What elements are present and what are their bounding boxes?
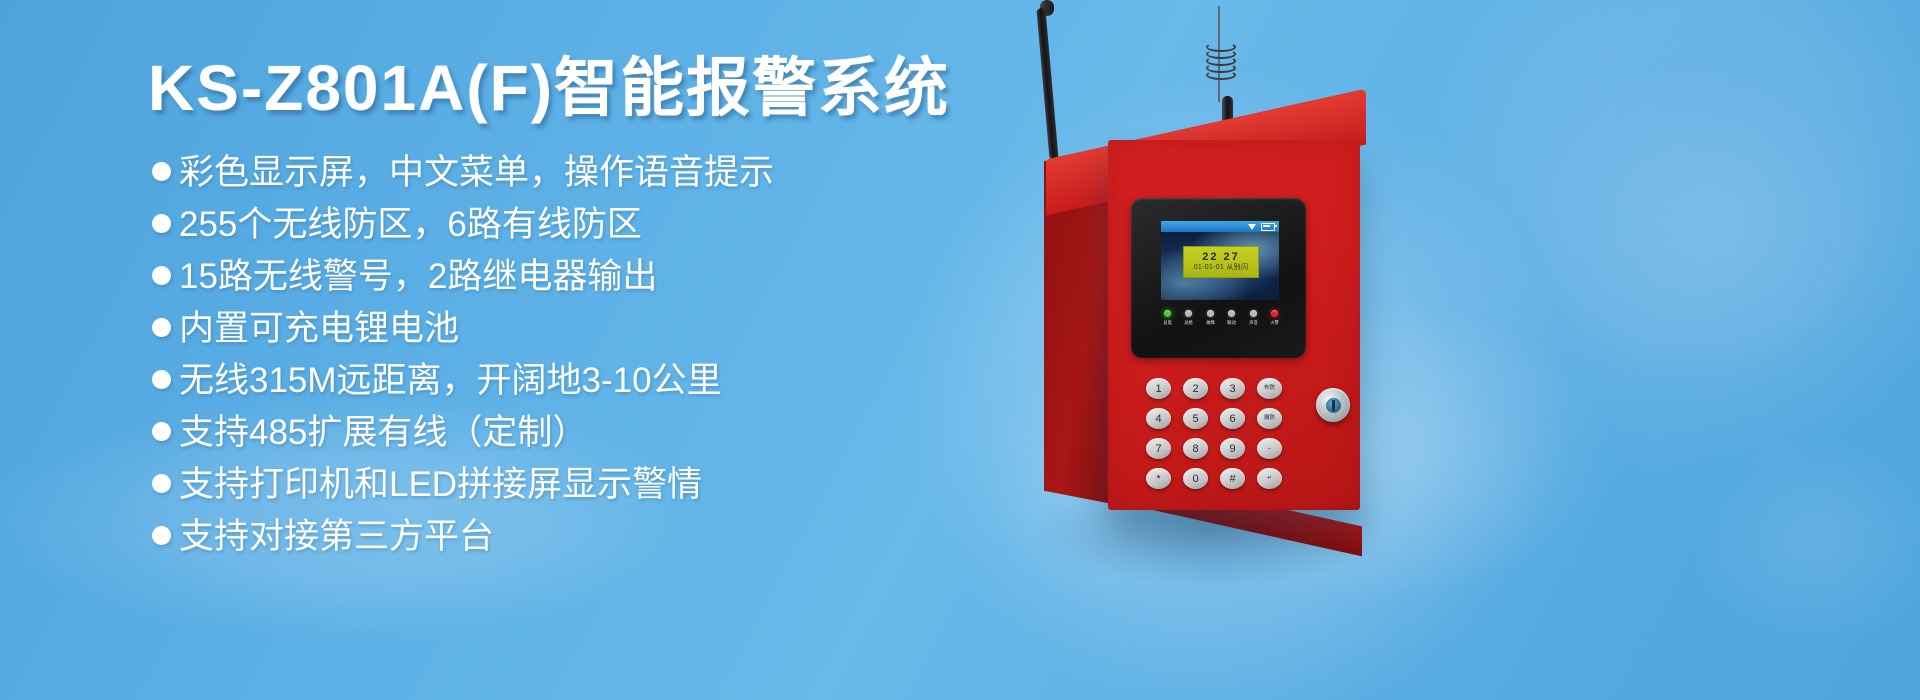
key-7[interactable]: 7 — [1146, 438, 1171, 459]
bullet-dot-icon — [152, 318, 171, 337]
list-item-label: 支持对接第三方平台 — [179, 519, 494, 554]
key-back[interactable]: ← — [1257, 438, 1282, 459]
list-item-label: 支持打印机和LED拼接屏显示警情 — [179, 467, 702, 502]
keypad-row: * 0 # ↵ — [1146, 468, 1296, 489]
indicator-label: 火警 — [1270, 320, 1279, 326]
led-icon — [1207, 310, 1214, 317]
feature-list: 彩色显示屏，中文菜单，操作语音提示 255个无线防区，6路有线防区 15路无线警… — [152, 155, 952, 571]
key-disarm[interactable]: 撤防 — [1257, 408, 1282, 429]
indicator-label: 总给 — [1185, 320, 1194, 326]
bullet-dot-icon — [152, 162, 171, 181]
banner-stage: KS-Z801A(F)智能报警系统 彩色显示屏，中文菜单，操作语音提示 255个… — [0, 0, 1920, 700]
list-item: 内置可充电锂电池 — [152, 311, 952, 346]
key-enter[interactable]: ↵ — [1257, 468, 1282, 489]
key-9[interactable]: 9 — [1220, 438, 1245, 459]
led-icon — [1185, 310, 1192, 317]
lcd-status-bar — [1161, 221, 1279, 232]
indicator-power: 总电 — [1159, 310, 1176, 326]
bullet-dot-icon — [152, 422, 171, 441]
led-icon — [1271, 310, 1278, 317]
key-4[interactable]: 4 — [1146, 408, 1171, 429]
list-item: 15路无线警号，2路继电器输出 — [152, 259, 952, 294]
keypad: 1 2 3 布防 4 5 6 撤防 7 8 9 ← — [1146, 378, 1296, 498]
antenna-coil-icon — [1206, 42, 1232, 78]
key-5[interactable]: 5 — [1183, 408, 1208, 429]
key-1[interactable]: 1 — [1146, 378, 1171, 399]
key-hash[interactable]: # — [1220, 468, 1245, 489]
bullet-dot-icon — [152, 266, 171, 285]
keypad-row: 7 8 9 ← — [1146, 438, 1296, 459]
list-item-label: 内置可充电锂电池 — [179, 311, 459, 346]
indicator-supply: 总给 — [1180, 310, 1197, 326]
list-item: 彩色显示屏，中文菜单，操作语音提示 — [152, 155, 952, 190]
key-8[interactable]: 8 — [1183, 438, 1208, 459]
display-bezel: 22 27 01-01-01 从别闪 总电 总给 — [1131, 198, 1306, 358]
key-star[interactable]: * — [1146, 468, 1171, 489]
indicator-led-row: 总电 总给 故障 联动 — [1159, 310, 1283, 326]
list-item: 无线315M远距离，开阔地3-10公里 — [152, 363, 952, 398]
led-icon — [1228, 310, 1235, 317]
list-item: 255个无线防区，6路有线防区 — [152, 207, 952, 242]
key-2[interactable]: 2 — [1183, 378, 1208, 399]
bullet-dot-icon — [152, 474, 171, 493]
indicator-sound: 声音 — [1245, 310, 1262, 326]
list-item: 支持对接第三方平台 — [152, 519, 952, 554]
bullet-dot-icon — [152, 526, 171, 545]
indicator-fault: 故障 — [1202, 310, 1219, 326]
key-lock-icon[interactable] — [1316, 388, 1350, 422]
antenna-left — [1036, 8, 1058, 160]
lcd-info-panel: 22 27 01-01-01 从别闪 — [1183, 246, 1259, 278]
list-item-label: 255个无线防区，6路有线防区 — [179, 207, 642, 242]
key-3[interactable]: 3 — [1220, 378, 1245, 399]
copy-block: KS-Z801A(F)智能报警系统 彩色显示屏，中文菜单，操作语音提示 255个… — [0, 0, 960, 700]
key-6[interactable]: 6 — [1220, 408, 1245, 429]
lcd-date: 01-01-01 — [1194, 264, 1224, 271]
keypad-row: 1 2 3 布防 — [1146, 378, 1296, 399]
lcd-screen[interactable]: 22 27 01-01-01 从别闪 — [1161, 221, 1279, 300]
led-icon — [1250, 310, 1257, 317]
lcd-status-text: 从别闪 — [1226, 264, 1248, 271]
indicator-label: 故障 — [1206, 320, 1215, 326]
bullet-dot-icon — [152, 214, 171, 233]
list-item-label: 无线315M远距离，开阔地3-10公里 — [179, 363, 722, 398]
indicator-alarm: 火警 — [1266, 310, 1283, 326]
led-icon — [1164, 310, 1171, 317]
battery-icon — [1261, 223, 1275, 231]
indicator-label: 声音 — [1249, 320, 1258, 326]
list-item-label: 彩色显示屏，中文菜单，操作语音提示 — [179, 155, 774, 190]
key-arm[interactable]: 布防 — [1257, 378, 1282, 399]
alarm-panel-device: 22 27 01-01-01 从别闪 总电 总给 — [960, 0, 1920, 700]
list-item: 支持打印机和LED拼接屏显示警情 — [152, 467, 952, 502]
bullet-dot-icon — [152, 370, 171, 389]
indicator-linkage: 联动 — [1223, 310, 1240, 326]
lcd-time: 22 27 — [1202, 252, 1240, 264]
keypad-row: 4 5 6 撤防 — [1146, 408, 1296, 429]
lcd-date-status: 01-01-01 从别闪 — [1194, 264, 1249, 272]
key-0[interactable]: 0 — [1183, 468, 1208, 489]
cabinet-front-panel: 22 27 01-01-01 从别闪 总电 总给 — [1108, 140, 1360, 510]
list-item: 支持485扩展有线（定制） — [152, 415, 952, 450]
indicator-label: 联动 — [1227, 320, 1236, 326]
indicator-label: 总电 — [1163, 320, 1172, 326]
list-item-label: 15路无线警号，2路继电器输出 — [179, 259, 657, 294]
signal-icon — [1248, 224, 1256, 230]
list-item-label: 支持485扩展有线（定制） — [179, 415, 587, 450]
page-title: KS-Z801A(F)智能报警系统 — [148, 56, 950, 120]
